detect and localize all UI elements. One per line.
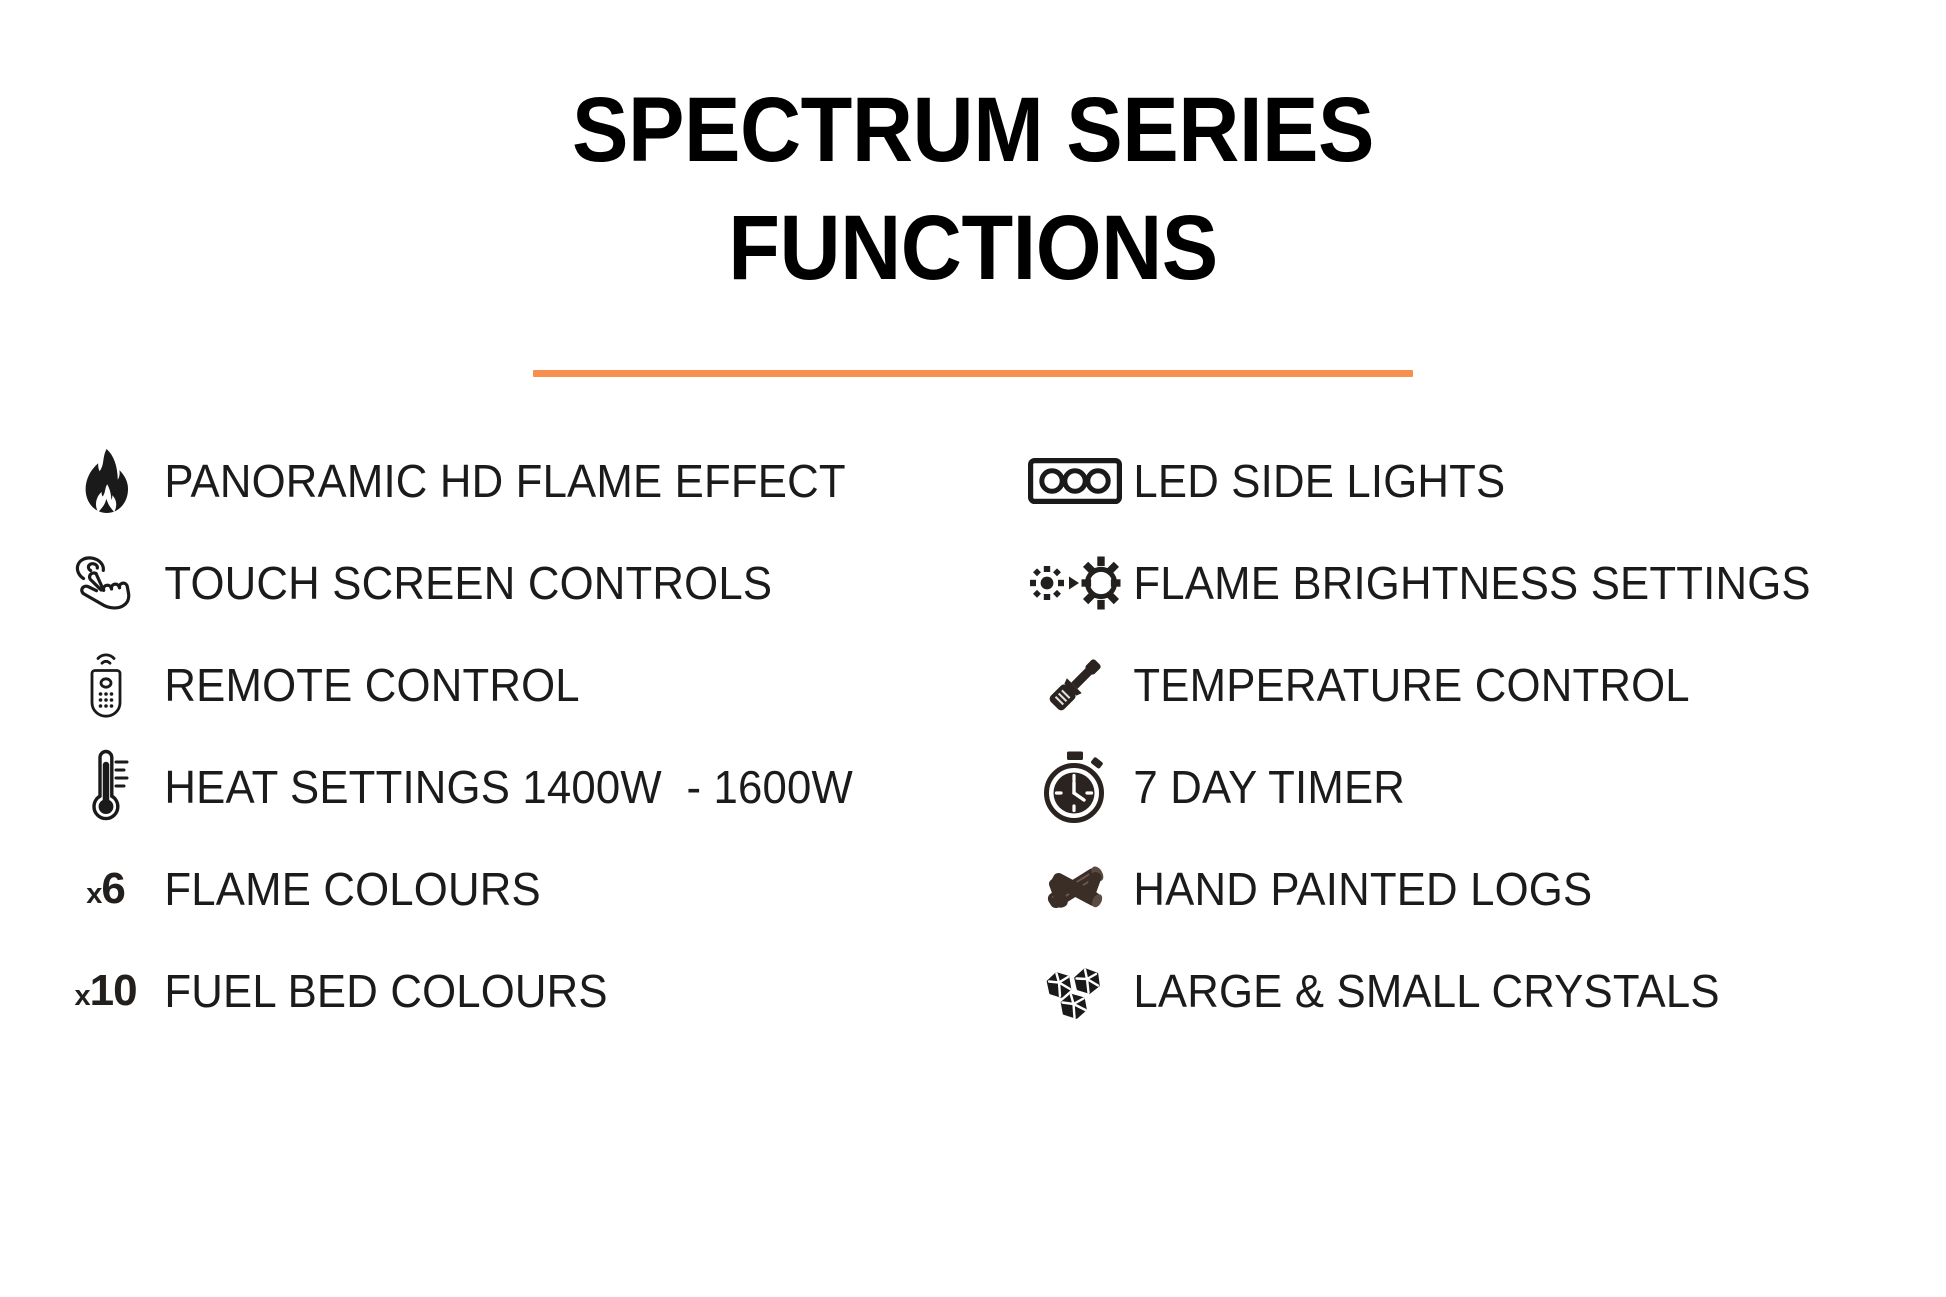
count-icon-value: x10 xyxy=(74,969,136,1013)
feature-row: 7 DAY TIMER xyxy=(1027,736,1946,838)
feature-row: HAND PAINTED LOGS xyxy=(1027,838,1946,940)
feature-label: REMOTE CONTROL xyxy=(153,658,580,712)
feature-label: PANORAMIC HD FLAME EFFECT xyxy=(153,454,846,508)
count-value: 10 xyxy=(90,966,137,1015)
feature-row: x10 FUEL BED COLOURS xyxy=(58,940,975,1042)
feature-row: PANORAMIC HD FLAME EFFECT xyxy=(58,430,975,532)
spectrum-series-functions-page: SPECTRUM SERIES FUNCTIONS PANORAMIC HD F… xyxy=(0,0,1946,1297)
accent-divider xyxy=(533,370,1413,377)
feature-row: LED SIDE LIGHTS xyxy=(1027,430,1946,532)
page-header: SPECTRUM SERIES FUNCTIONS xyxy=(0,0,1946,377)
thermometer-icon xyxy=(58,746,153,828)
count-icon-value: x6 xyxy=(86,867,125,911)
feature-row: x6 FLAME COLOURS xyxy=(58,838,975,940)
feature-label: TEMPERATURE CONTROL xyxy=(1122,658,1690,712)
features-right-column: LED SIDE LIGHTS xyxy=(975,430,1946,1042)
led-side-lights-icon xyxy=(1027,440,1122,522)
feature-label: TOUCH SCREEN CONTROLS xyxy=(153,556,772,610)
stopwatch-icon xyxy=(1027,746,1122,828)
flame-icon xyxy=(58,440,153,522)
feature-row: LARGE & SMALL CRYSTALS xyxy=(1027,940,1946,1042)
feature-label: LED SIDE LIGHTS xyxy=(1122,454,1505,508)
feature-row: TOUCH SCREEN CONTROLS xyxy=(58,532,975,634)
feature-label: FLAME COLOURS xyxy=(153,862,541,916)
feature-row: FLAME BRIGHTNESS SETTINGS xyxy=(1027,532,1946,634)
feature-label: FLAME BRIGHTNESS SETTINGS xyxy=(1122,556,1811,610)
brightness-icon xyxy=(1027,542,1122,624)
x6-count-icon: x6 xyxy=(58,848,153,930)
count-prefix: x xyxy=(74,980,89,1012)
x10-count-icon: x10 xyxy=(58,950,153,1032)
feature-label: 7 DAY TIMER xyxy=(1122,760,1405,814)
page-title-line-1: SPECTRUM SERIES xyxy=(78,72,1868,190)
feature-row: TEMPERATURE CONTROL xyxy=(1027,634,1946,736)
page-title-line-2: FUNCTIONS xyxy=(78,190,1868,308)
feature-label: HEAT SETTINGS 1400W - 1600W xyxy=(153,760,853,814)
crystals-icon xyxy=(1027,950,1122,1032)
feature-row: HEAT SETTINGS 1400W - 1600W xyxy=(58,736,975,838)
features-columns: PANORAMIC HD FLAME EFFECT xyxy=(0,430,1946,1042)
feature-label: LARGE & SMALL CRYSTALS xyxy=(1122,964,1720,1018)
divider-container xyxy=(0,370,1946,377)
count-value: 6 xyxy=(101,864,124,913)
remote-control-icon xyxy=(58,644,153,726)
feature-label: HAND PAINTED LOGS xyxy=(1122,862,1592,916)
screwdriver-icon xyxy=(1027,644,1122,726)
count-prefix: x xyxy=(86,878,101,910)
logs-icon xyxy=(1027,848,1122,930)
feature-row: REMOTE CONTROL xyxy=(58,634,975,736)
touch-hand-icon xyxy=(58,542,153,624)
feature-label: FUEL BED COLOURS xyxy=(153,964,608,1018)
features-left-column: PANORAMIC HD FLAME EFFECT xyxy=(0,430,975,1042)
